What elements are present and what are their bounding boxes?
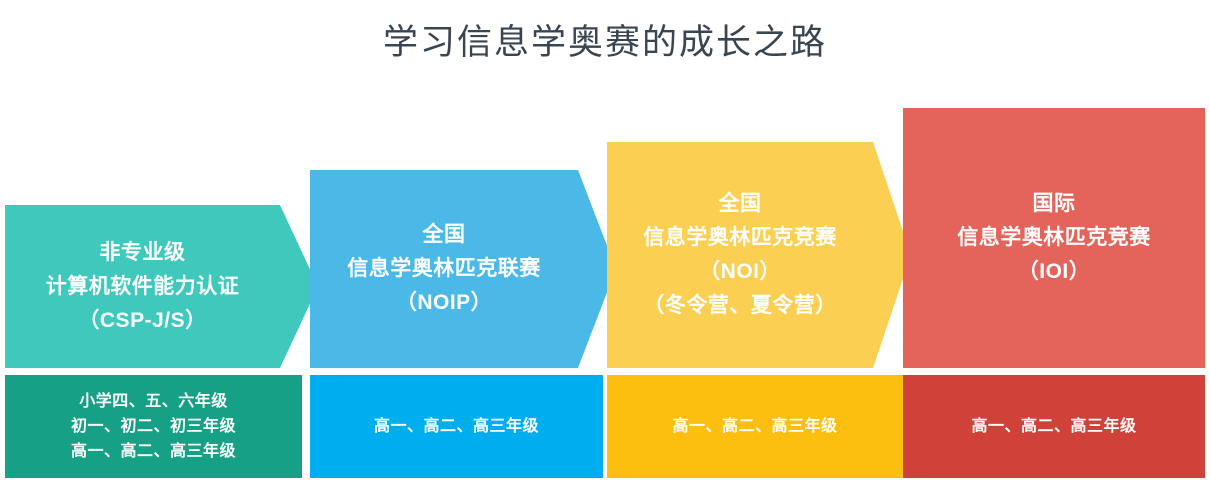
chevron-shape-csp[interactable] <box>5 205 318 368</box>
footer-line-noip-0: 高一、高二、高三年级 <box>374 414 539 439</box>
footer-bar-csp[interactable]: 小学四、五、六年级初一、初二、初三年级高一、高二、高三年级 <box>5 375 302 478</box>
diagram-root: 学习信息学奥赛的成长之路 非专业级计算机软件能力认证（CSP-J/S） 全国信息… <box>0 0 1210 483</box>
footer-line-csp-0: 小学四、五、六年级 <box>71 389 236 414</box>
footer-bar-ioi[interactable]: 高一、高二、高三年级 <box>903 375 1205 478</box>
footer-line-csp-2: 高一、高二、高三年级 <box>71 439 236 464</box>
footer-line-noi-0: 高一、高二、高三年级 <box>672 414 837 439</box>
footer-label-noip: 高一、高二、高三年级 <box>374 414 539 439</box>
footer-bar-noi[interactable]: 高一、高二、高三年级 <box>607 375 903 478</box>
footer-line-ioi-0: 高一、高二、高三年级 <box>971 414 1136 439</box>
chevron-shape-ioi[interactable] <box>903 108 1205 368</box>
footer-bar-noip[interactable]: 高一、高二、高三年级 <box>310 375 603 478</box>
footer-label-csp: 小学四、五、六年级初一、初二、初三年级高一、高二、高三年级 <box>71 389 236 464</box>
chevron-shape-noi[interactable] <box>607 142 911 368</box>
chevron-shape-noip[interactable] <box>310 170 616 368</box>
footer-label-ioi: 高一、高二、高三年级 <box>971 414 1136 439</box>
footer-label-noi: 高一、高二、高三年级 <box>672 414 837 439</box>
footer-line-csp-1: 初一、初二、初三年级 <box>71 414 236 439</box>
